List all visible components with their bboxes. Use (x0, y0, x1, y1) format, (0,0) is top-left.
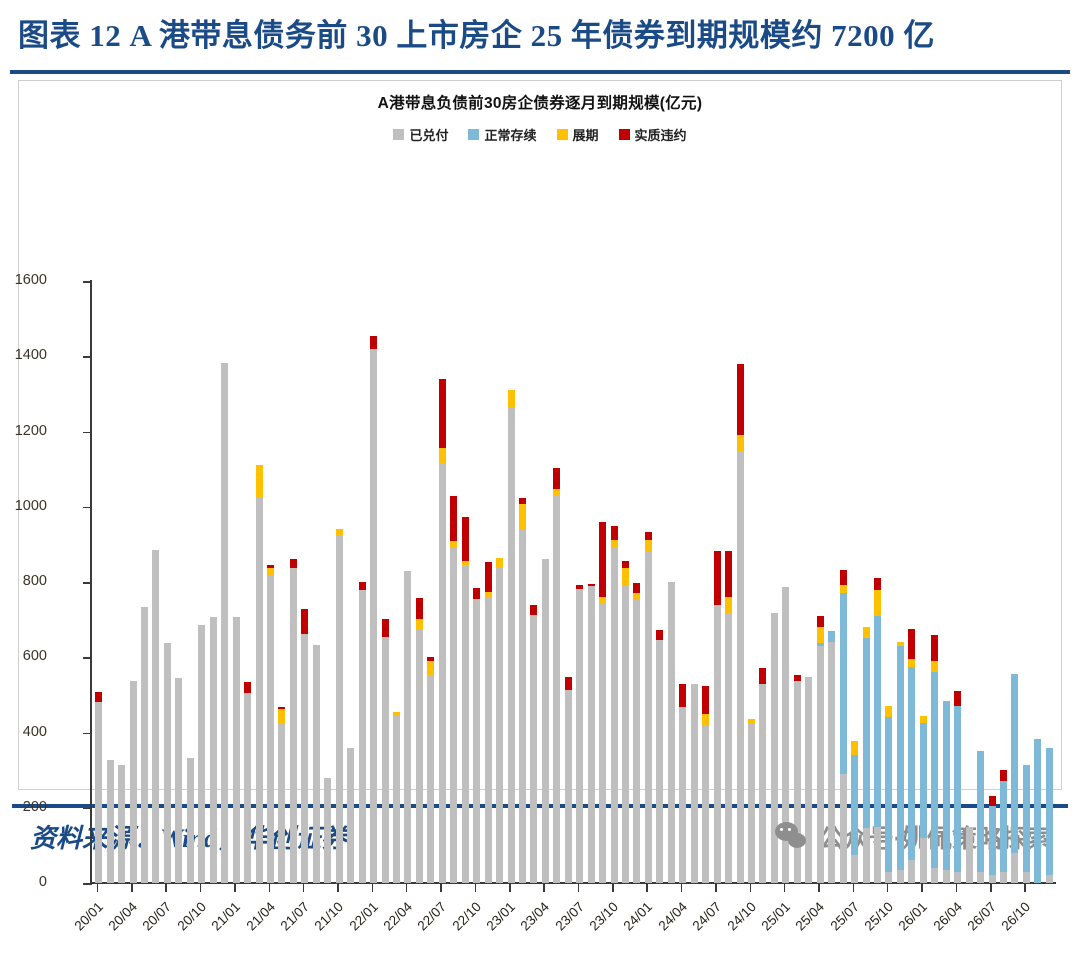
x-tick-label: 25/01 (758, 899, 793, 934)
figure-footer: 资料来源：Wind，华创证券 公众号·姚佩策略探索 (0, 808, 1080, 855)
bar-segment-展期 (519, 504, 526, 530)
title-divider (10, 70, 1070, 74)
legend-swatch-repaid (393, 129, 404, 140)
bar-segment-展期 (863, 627, 870, 638)
bar-segment-实质违约 (622, 561, 629, 568)
bar-segment-正常存续 (817, 643, 824, 647)
bar-segment-已兑付 (908, 860, 915, 883)
y-tick-label: 1400 (0, 347, 47, 363)
x-tick-label: 26/07 (965, 899, 1000, 934)
bar-segment-实质违约 (530, 605, 537, 616)
bar-segment-实质违约 (633, 583, 640, 592)
bar-segment-展期 (508, 390, 515, 408)
x-tick (715, 883, 717, 892)
bar-segment-展期 (737, 435, 744, 451)
x-tick (440, 883, 442, 892)
bar-segment-实质违约 (759, 668, 766, 684)
x-tick (131, 883, 133, 892)
bar-segment-展期 (427, 661, 434, 676)
bar-segment-展期 (874, 590, 881, 616)
x-tick (818, 883, 820, 892)
bar-segment-已兑付 (943, 870, 950, 883)
y-axis-line (90, 280, 92, 884)
legend-item-default: 实质违约 (619, 125, 687, 144)
legend-label-repaid: 已兑付 (409, 125, 448, 144)
x-tick-label: 21/10 (312, 899, 347, 934)
bar-segment-已兑付 (393, 716, 400, 883)
bar-segment-已兑付 (885, 872, 892, 883)
x-tick-label: 20/10 (174, 899, 209, 934)
bar-segment-展期 (267, 568, 274, 576)
chart-card: A港带息负债前30房企债券逐月到期规模(亿元) 已兑付 正常存续 展期 实质违约… (18, 80, 1062, 790)
x-tick (200, 883, 202, 892)
legend-label-default: 实质违约 (635, 125, 687, 144)
bar-segment-展期 (336, 529, 343, 536)
page-title: 图表 12 A 港带息债务前 30 上市房企 25 年债券到期规模约 7200 … (18, 10, 1062, 62)
bar-segment-展期 (885, 706, 892, 717)
bar-segment-展期 (416, 619, 423, 630)
x-tick (543, 883, 545, 892)
bar-segment-展期 (702, 714, 709, 725)
x-tick-label: 24/04 (655, 899, 690, 934)
y-tick-label: 400 (0, 724, 47, 740)
x-tick-label: 20/07 (140, 899, 175, 934)
x-tick-label: 26/01 (896, 899, 931, 934)
chart-legend: 已兑付 正常存续 展期 实质违约 (19, 125, 1061, 144)
bar-segment-实质违约 (301, 609, 308, 634)
x-tick-label: 22/01 (346, 899, 381, 934)
legend-swatch-outstanding (468, 129, 479, 140)
bar-segment-展期 (450, 541, 457, 548)
x-tick-label: 24/07 (690, 899, 725, 934)
bar-segment-实质违约 (370, 336, 377, 350)
figure-header: 图表 12 A 港带息债务前 30 上市房企 25 年债券到期规模约 7200 … (0, 0, 1080, 62)
bar-segment-展期 (931, 661, 938, 672)
y-tick-label: 0 (0, 874, 47, 890)
bar-segment-实质违约 (611, 526, 618, 540)
x-tick (681, 883, 683, 892)
x-tick-label: 24/01 (621, 899, 656, 934)
bar-segment-实质违约 (794, 675, 801, 682)
x-tick (234, 883, 236, 892)
bar-segment-展期 (256, 465, 263, 499)
legend-item-extended: 展期 (557, 125, 599, 144)
x-tick (887, 883, 889, 892)
bar-segment-已兑付 (370, 349, 377, 883)
bar-segment-实质违约 (1000, 770, 1007, 781)
bar-segment-实质违约 (656, 630, 663, 641)
bar-26-03 (943, 701, 950, 883)
x-tick (406, 883, 408, 892)
bar-segment-实质违约 (737, 364, 744, 435)
bar-segment-展期 (817, 627, 824, 643)
wechat-account: 公众号·姚佩策略探索 (775, 819, 1052, 855)
bar-segment-已兑付 (954, 872, 961, 883)
bar-segment-已兑付 (851, 855, 858, 883)
wechat-label: 公众号·姚佩策略探索 (819, 819, 1052, 855)
bar-segment-实质违约 (702, 686, 709, 714)
bar-segment-展期 (553, 489, 560, 495)
bar-21-05 (278, 707, 285, 883)
bar-segment-实质违约 (519, 498, 526, 504)
x-tick (750, 883, 752, 892)
x-tick-label: 23/10 (587, 899, 622, 934)
x-tick (853, 883, 855, 892)
bar-segment-正常存续 (874, 616, 881, 827)
y-tick (83, 356, 92, 358)
legend-label-extended: 展期 (573, 125, 599, 144)
x-tick-label: 25/04 (793, 899, 828, 934)
bar-segment-展期 (840, 585, 847, 593)
bar-segment-展期 (622, 568, 629, 586)
x-axis-line (90, 882, 1056, 884)
bar-segment-实质违约 (817, 616, 824, 627)
bar-segment-展期 (908, 659, 915, 667)
bar-26-01 (920, 716, 927, 883)
y-tick (83, 582, 92, 584)
y-tick (83, 733, 92, 735)
x-tick-label: 24/10 (724, 899, 759, 934)
bar-segment-实质违约 (382, 619, 389, 638)
legend-swatch-extended (557, 129, 568, 140)
bar-segment-展期 (633, 593, 640, 601)
bar-segment-展期 (897, 642, 904, 646)
bar-segment-实质违约 (95, 692, 102, 702)
bar-segment-展期 (725, 597, 732, 613)
x-tick (921, 883, 923, 892)
bar-segment-实质违约 (599, 522, 606, 597)
x-tick (303, 883, 305, 892)
x-tick-label: 25/10 (861, 899, 896, 934)
chart-title: A港带息负债前30房企债券逐月到期规模(亿元) (19, 91, 1061, 113)
x-tick-label: 21/01 (209, 899, 244, 934)
bar-segment-实质违约 (244, 682, 251, 693)
bar-segment-实质违约 (450, 496, 457, 541)
bar-segment-已兑付 (931, 868, 938, 883)
bar-24-10 (748, 719, 755, 883)
x-tick (509, 883, 511, 892)
y-tick-label: 800 (0, 573, 47, 589)
bar-segment-已兑付 (977, 872, 984, 883)
bar-segment-实质违约 (462, 517, 469, 560)
y-tick (83, 281, 92, 283)
y-tick (83, 883, 92, 885)
x-tick (165, 883, 167, 892)
bar-segment-已兑付 (897, 870, 904, 883)
y-tick-label: 1600 (0, 272, 47, 288)
y-tick (83, 507, 92, 509)
bar-segment-已兑付 (1023, 872, 1030, 883)
bar-segment-展期 (599, 597, 606, 604)
bar-segment-实质违约 (679, 684, 686, 707)
bar-segment-展期 (278, 709, 285, 723)
bar-segment-已兑付 (95, 702, 102, 883)
x-tick-label: 20/01 (71, 899, 106, 934)
legend-item-outstanding: 正常存续 (468, 125, 536, 144)
bar-segment-实质违约 (267, 565, 274, 568)
bar-segment-展期 (485, 592, 492, 598)
bar-segment-实质违约 (576, 585, 583, 589)
bar-segment-实质违约 (725, 551, 732, 597)
bar-segment-正常存续 (828, 631, 835, 642)
bar-segment-实质违约 (588, 584, 595, 586)
x-tick (269, 883, 271, 892)
wechat-icon (775, 822, 809, 852)
bar-segment-实质违约 (427, 657, 434, 661)
x-tick-label: 26/10 (999, 899, 1034, 934)
bar-segment-展期 (748, 719, 755, 724)
bar-segment-展期 (393, 712, 400, 717)
x-tick (956, 883, 958, 892)
plot-area: 0200400600800100012001400160020/0120/042… (19, 81, 1063, 791)
x-tick-label: 21/04 (243, 899, 278, 934)
bar-segment-实质违约 (439, 379, 446, 449)
bar-segment-展期 (645, 540, 652, 552)
bar-segment-实质违约 (278, 707, 285, 709)
bar-segment-实质违约 (473, 588, 480, 599)
x-tick-label: 23/01 (484, 899, 519, 934)
bars-container (91, 281, 1053, 883)
x-tick-label: 23/04 (518, 899, 553, 934)
bar-segment-实质违约 (874, 578, 881, 589)
bar-segment-展期 (439, 448, 446, 462)
x-tick-label: 21/07 (277, 899, 312, 934)
x-tick (784, 883, 786, 892)
bar-segment-实质违约 (416, 598, 423, 619)
bar-segment-实质违约 (565, 677, 572, 690)
bar-segment-实质违约 (908, 629, 915, 659)
source-note: 资料来源：Wind，华创证券 (30, 818, 347, 855)
legend-label-outstanding: 正常存续 (484, 125, 536, 144)
bar-segment-实质违约 (553, 468, 560, 489)
bar-segment-展期 (496, 558, 503, 567)
x-tick (578, 883, 580, 892)
bar-segment-实质违约 (714, 551, 721, 604)
bar-22-03 (393, 712, 400, 883)
bar-segment-展期 (611, 540, 618, 548)
bar-segment-展期 (851, 741, 858, 755)
x-tick (990, 883, 992, 892)
x-tick (612, 883, 614, 892)
bar-25-10 (885, 706, 892, 883)
bar-segment-展期 (920, 716, 927, 724)
legend-swatch-default (619, 129, 630, 140)
x-tick-label: 23/07 (552, 899, 587, 934)
x-tick-label: 25/07 (827, 899, 862, 934)
bar-segment-实质违约 (359, 582, 366, 590)
x-tick-label: 22/04 (380, 899, 415, 934)
bar-segment-实质违约 (290, 559, 297, 569)
bar-segment-实质违约 (840, 570, 847, 585)
y-tick-label: 600 (0, 648, 47, 664)
x-tick (1024, 883, 1026, 892)
bar-segment-正常存续 (863, 638, 870, 828)
x-tick-label: 22/10 (449, 899, 484, 934)
y-tick-label: 1200 (0, 423, 47, 439)
y-tick-label: 1000 (0, 498, 47, 514)
x-tick-label: 26/04 (930, 899, 965, 934)
x-tick-label: 22/07 (415, 899, 450, 934)
x-tick (337, 883, 339, 892)
x-tick (475, 883, 477, 892)
bar-segment-实质违约 (954, 691, 961, 706)
y-tick (83, 657, 92, 659)
x-tick (97, 883, 99, 892)
bar-segment-已兑付 (989, 875, 996, 883)
bar-segment-实质违约 (645, 532, 652, 540)
bar-segment-已兑付 (1011, 853, 1018, 883)
bar-segment-正常存续 (840, 593, 847, 774)
x-tick (372, 883, 374, 892)
bar-segment-展期 (462, 561, 469, 566)
bar-segment-实质违约 (485, 562, 492, 592)
bar-22-01 (370, 336, 377, 883)
x-tick-label: 20/04 (106, 899, 141, 934)
bar-segment-已兑付 (1000, 872, 1007, 883)
x-tick (646, 883, 648, 892)
legend-item-repaid: 已兑付 (393, 125, 448, 144)
bar-segment-实质违约 (931, 635, 938, 661)
bar-segment-已兑付 (679, 707, 686, 883)
y-tick (83, 432, 92, 434)
bar-segment-已兑付 (1046, 875, 1053, 883)
